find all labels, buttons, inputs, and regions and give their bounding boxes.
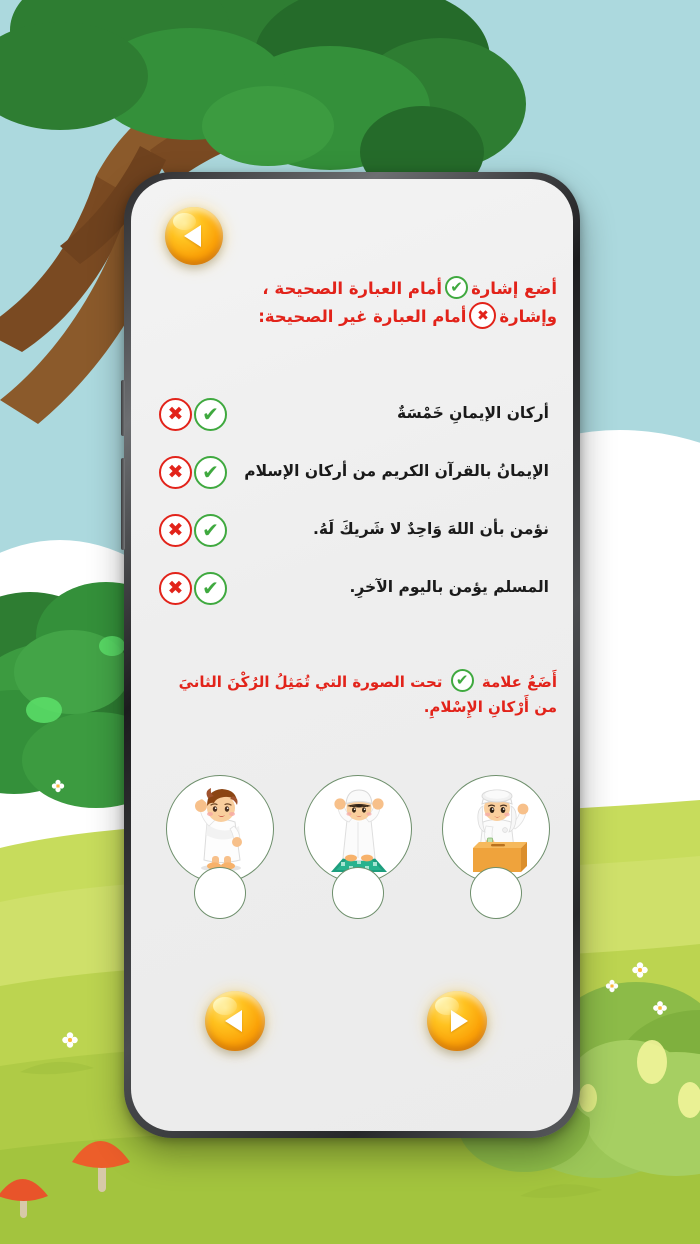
check-circle-icon: ✔ <box>451 669 474 692</box>
instruction-text-1: أضع إشارة✔أمام العبارة الصحيحة ، وإشارة✖… <box>165 275 557 330</box>
cross-button-3[interactable]: ✖ <box>159 572 192 605</box>
next-page-button[interactable] <box>427 991 487 1051</box>
image-choice-cards <box>151 775 565 925</box>
check-button-3[interactable]: ✔ <box>194 572 227 605</box>
statement-text-3: المسلم يؤمن باليوم الآخرِ. <box>227 577 565 599</box>
previous-page-button[interactable] <box>205 991 265 1051</box>
check-button-1[interactable]: ✔ <box>194 456 227 489</box>
statement-text-2: نؤمن بأن اللهَ وَاحِدٌ لا شَريكَ لَهُ. <box>227 519 565 541</box>
statement-text-1: الإيمانُ بالقرآن الكريم من أركان الإسلام <box>227 461 565 483</box>
statements-list: ✖ ✔ أركان الإيمانِ خَمْسَةٌ ✖ ✔ الإيمانُ… <box>151 385 565 617</box>
cross-button-2[interactable]: ✖ <box>159 514 192 547</box>
statement-text-0: أركان الإيمانِ خَمْسَةٌ <box>227 403 565 425</box>
card-boy-praying-on-mat[interactable] <box>298 775 418 925</box>
table-row: ✖ ✔ أركان الإيمانِ خَمْسَةٌ <box>151 385 565 443</box>
cross-circle-icon: ✖ <box>469 302 496 329</box>
instruction-1-part-a: أضع إشارة <box>471 279 557 298</box>
select-circle-1[interactable] <box>332 867 384 919</box>
check-button-2[interactable]: ✔ <box>194 514 227 547</box>
screenshot-root: أضع إشارة✔أمام العبارة الصحيحة ، وإشارة✖… <box>0 0 700 1244</box>
cross-button-1[interactable]: ✖ <box>159 456 192 489</box>
select-circle-0[interactable] <box>194 867 246 919</box>
cross-button-0[interactable]: ✖ <box>159 398 192 431</box>
select-circle-2[interactable] <box>470 867 522 919</box>
answer-marks-1: ✖ ✔ <box>151 456 227 489</box>
answer-marks-0: ✖ ✔ <box>151 398 227 431</box>
answer-marks-2: ✖ ✔ <box>151 514 227 547</box>
instruction-1-part-c: وإشارة <box>499 307 557 326</box>
card-boy-in-ihram[interactable] <box>160 775 280 925</box>
table-row: ✖ ✔ الإيمانُ بالقرآن الكريم من أركان الإ… <box>151 443 565 501</box>
right-arrow-icon <box>451 1010 468 1032</box>
left-arrow-icon <box>225 1010 242 1032</box>
phone-volume-down-button[interactable] <box>121 458 125 550</box>
left-arrow-icon <box>184 225 201 247</box>
instruction-1-part-b: أمام العبارة الصحيحة ، <box>262 279 442 298</box>
back-button[interactable] <box>165 207 223 265</box>
answer-marks-3: ✖ ✔ <box>151 572 227 605</box>
table-row: ✖ ✔ نؤمن بأن اللهَ وَاحِدٌ لا شَريكَ لَه… <box>151 501 565 559</box>
check-circle-icon: ✔ <box>445 276 468 299</box>
phone-volume-up-button[interactable] <box>121 380 125 436</box>
check-button-0[interactable]: ✔ <box>194 398 227 431</box>
instruction-text-2: أَضَعُ علامة ✔ تحت الصورة التي تُمَثِلُ … <box>165 669 557 720</box>
instruction-1-part-d: أمام العبارة غير الصحيحة: <box>258 307 466 326</box>
phone-frame: أضع إشارة✔أمام العبارة الصحيحة ، وإشارة✖… <box>124 172 580 1138</box>
phone-screen: أضع إشارة✔أمام العبارة الصحيحة ، وإشارة✖… <box>131 179 573 1131</box>
card-boy-giving-charity-box[interactable] <box>436 775 556 925</box>
instruction-2-part-a: أَضَعُ علامة <box>482 673 557 691</box>
table-row: ✖ ✔ المسلم يؤمن باليوم الآخرِ. <box>151 559 565 617</box>
